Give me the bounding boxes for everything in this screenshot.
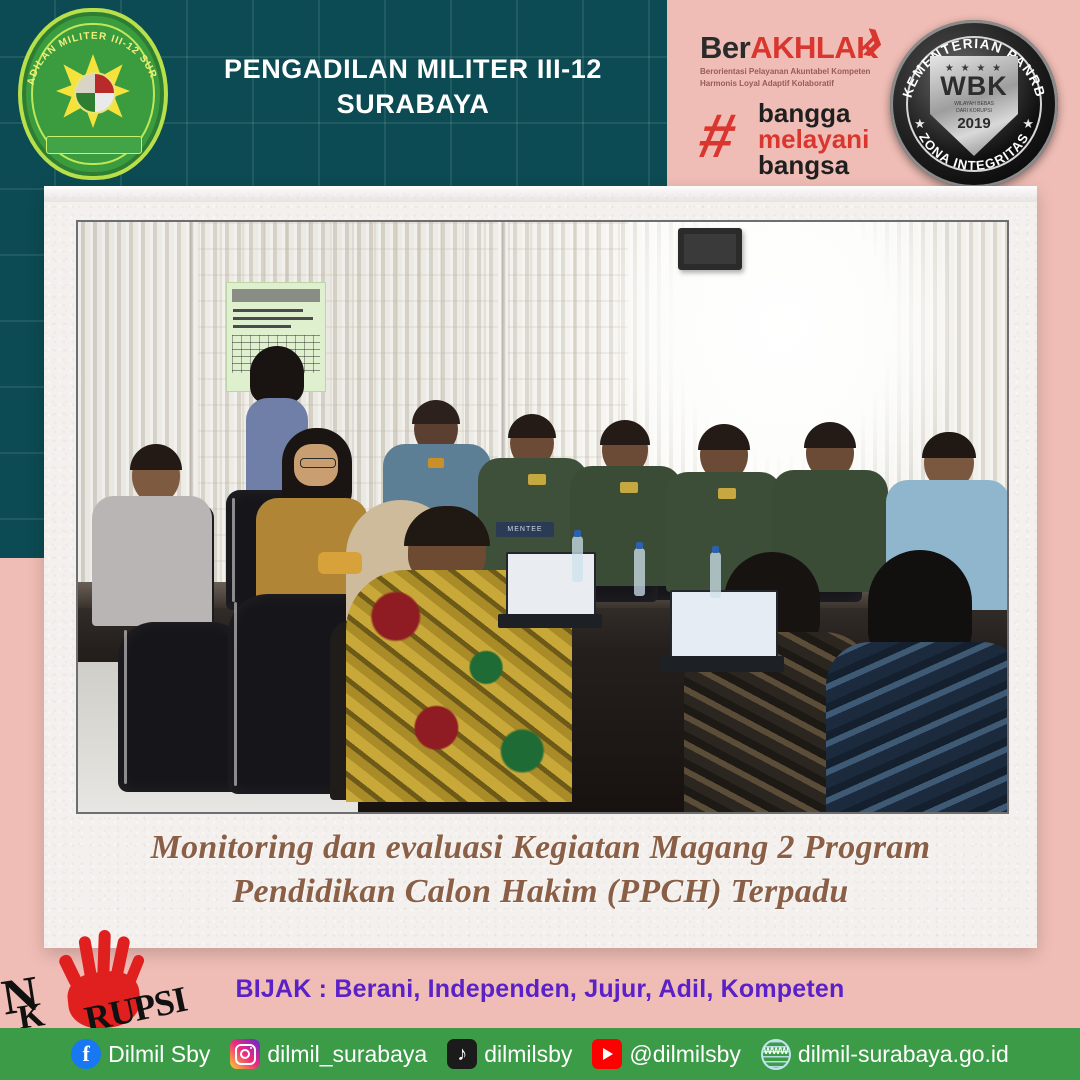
social-item-youtube[interactable]: @dilmilsby xyxy=(592,1039,741,1069)
website-icon[interactable]: WWW xyxy=(761,1039,791,1069)
person-top xyxy=(92,496,212,626)
star-icon-right: ★ xyxy=(1022,116,1034,132)
instagram-glyph xyxy=(235,1044,256,1065)
org-title-line2: SURABAYA xyxy=(178,87,648,122)
social-handle-instagram: dilmil_surabaya xyxy=(267,1041,427,1068)
bangga-melayani-bangsa-logo: # bangga melayani bangsa xyxy=(700,100,910,176)
photo-snack-tray xyxy=(318,552,362,574)
social-item-website[interactable]: WWW dilmil-surabaya.go.id xyxy=(761,1039,1009,1069)
person-hair xyxy=(250,346,304,404)
social-item-facebook[interactable]: f Dilmil Sby xyxy=(71,1039,210,1069)
calendar-line xyxy=(233,317,313,320)
photo-nameplate: MENTEE xyxy=(496,522,554,537)
youtube-play-glyph xyxy=(603,1048,613,1060)
berakhlak-logo: BerAKHLAK ❯ Berorientasi Pelayanan Akunt… xyxy=(700,32,900,89)
berakhlak-subtitle-line1: Berorientasi Pelayanan Akuntabel Kompete… xyxy=(700,66,900,78)
person-batik-shirt xyxy=(826,642,1007,812)
social-item-tiktok[interactable]: ♪ dilmilsby xyxy=(447,1039,572,1069)
laptop-keyboard xyxy=(498,614,602,628)
poster-canvas: PENGADILAN MILITER III-12 SURABAYA PENGA… xyxy=(0,0,1080,1080)
emblem-ribbon xyxy=(46,136,142,154)
berakhlak-subtitle: Berorientasi Pelayanan Akuntabel Kompete… xyxy=(700,66,900,89)
instagram-icon[interactable] xyxy=(230,1039,260,1069)
wbk-shield-text: WBK xyxy=(940,74,1007,100)
rank-insignia xyxy=(718,488,736,499)
photo-water-bottle xyxy=(572,536,583,582)
photo-ceiling-speaker xyxy=(678,228,742,270)
bangga-line3: bangsa xyxy=(758,152,869,178)
photo-water-bottle xyxy=(710,552,721,598)
paper-top-highlight xyxy=(44,186,1037,202)
wbk-shield-sub1: WILAYAH BEBAS xyxy=(954,101,994,107)
facebook-icon[interactable]: f xyxy=(71,1039,101,1069)
bangga-line1: bangga xyxy=(758,100,869,126)
pengadilan-militer-emblem: PENGADILAN MILITER III-12 SURABAYA xyxy=(18,8,168,180)
bangga-lines: bangga melayani bangsa xyxy=(758,100,869,178)
rank-insignia xyxy=(620,482,638,493)
tiktok-icon[interactable]: ♪ xyxy=(447,1039,477,1069)
social-handle-tiktok: dilmilsby xyxy=(484,1041,572,1068)
rank-insignia xyxy=(528,474,546,485)
berakhlak-subtitle-line2: Harmonis Loyal Adaptif Kolaboratif xyxy=(700,78,900,90)
social-handle-youtube: @dilmilsby xyxy=(629,1041,741,1068)
rank-insignia xyxy=(428,458,444,468)
photo-laptop-1 xyxy=(498,552,598,640)
photo-laptop-2 xyxy=(660,590,780,686)
photo-caption: Monitoring dan evaluasi Kegiatan Magang … xyxy=(44,826,1037,913)
bijak-motto: BIJAK : Berani, Independen, Jujur, Adil,… xyxy=(0,975,1080,1004)
social-handle-website: dilmil-surabaya.go.id xyxy=(798,1041,1009,1068)
calendar-line xyxy=(233,309,303,312)
calendar-line xyxy=(233,325,291,328)
hashtag-icon: # xyxy=(693,106,741,168)
calendar-header xyxy=(232,289,320,302)
emblem-shield xyxy=(74,72,116,114)
wbk-year: 2019 xyxy=(957,115,990,132)
berakhlak-prefix: Ber xyxy=(700,30,750,65)
berakhlak-suffix: AKHLAK xyxy=(750,30,878,65)
social-media-bar: f Dilmil Sby dilmil_surabaya ♪ dilmilsby… xyxy=(0,1028,1080,1080)
social-handle-facebook: Dilmil Sby xyxy=(108,1041,210,1068)
youtube-icon[interactable] xyxy=(592,1039,622,1069)
social-item-instagram[interactable]: dilmil_surabaya xyxy=(230,1039,427,1069)
bangga-line2: melayani xyxy=(758,126,869,152)
polaroid-paper-card: FUJITSU THE POSSIBILITIES ARE INFINITE xyxy=(44,186,1037,948)
meeting-room-photo: FUJITSU THE POSSIBILITIES ARE INFINITE xyxy=(76,220,1009,814)
wbk-shield-sub2: DARI KORUPSI xyxy=(956,108,992,114)
laptop-keyboard xyxy=(660,656,784,672)
org-title-line1: PENGADILAN MILITER III-12 xyxy=(178,52,648,87)
photo-water-bottle xyxy=(634,548,645,596)
laptop-screen xyxy=(670,590,778,660)
wbk-zona-integritas-medal: KEMENTERIAN PANRB ZONA INTEGRITAS ★ ★ ★ … xyxy=(890,20,1058,188)
eyeglasses-icon xyxy=(300,458,336,468)
caption-line1: Monitoring dan evaluasi Kegiatan Magang … xyxy=(44,826,1037,870)
www-label: WWW xyxy=(761,1046,791,1056)
caption-line2: Pendidikan Calon Hakim (PPCH) Terpadu xyxy=(44,870,1037,914)
star-icon-left: ★ xyxy=(914,116,926,132)
photo-inner: FUJITSU THE POSSIBILITIES ARE INFINITE xyxy=(78,222,1007,812)
page-title: PENGADILAN MILITER III-12 SURABAYA xyxy=(178,52,648,121)
